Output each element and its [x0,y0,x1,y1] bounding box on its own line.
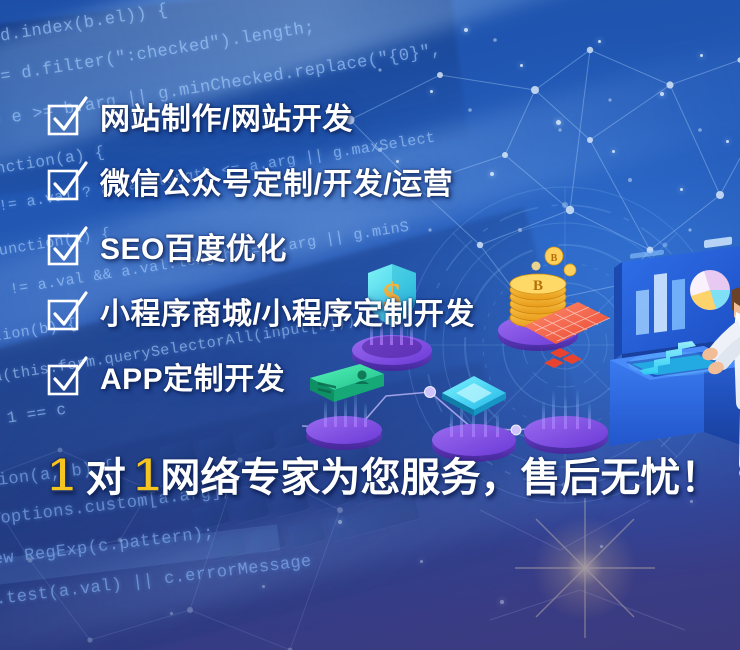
checkbox-checked-icon [48,168,82,202]
tagline: 1 对 1 网络专家为您服务，售后无忧！ [48,452,720,500]
feature-item-miniprogram[interactable]: 小程序商城/小程序定制开发 [48,295,475,335]
tagline-rest-text: 网络专家为您服务，售后无忧！ [160,458,720,498]
tagline-middle-word: 对 [86,458,126,498]
feature-label: 小程序商城/小程序定制开发 [100,300,475,330]
feature-label: SEO百度优化 [100,235,287,265]
feature-label: 微信公众号定制/开发/运营 [100,170,453,200]
promo-banner: .querySelectorAll("input[type=checkbox]"… [0,0,740,650]
feature-item-website[interactable]: 网站制作/网站开发 [48,100,475,140]
checkbox-checked-icon [48,103,82,137]
feature-item-wechat[interactable]: 微信公众号定制/开发/运营 [48,165,475,205]
content-layer: 网站制作/网站开发 微信公众号定制/开发/运营 [0,0,740,650]
feature-label: APP定制开发 [100,365,285,395]
tagline-number-second: 1 [134,452,161,500]
feature-item-app[interactable]: APP定制开发 [48,360,475,400]
checkbox-checked-icon [48,233,82,267]
checkbox-checked-icon [48,298,82,332]
feature-item-seo[interactable]: SEO百度优化 [48,230,475,270]
feature-label: 网站制作/网站开发 [100,105,353,135]
tagline-number-first: 1 [48,452,75,500]
feature-list: 网站制作/网站开发 微信公众号定制/开发/运营 [48,100,475,400]
checkbox-checked-icon [48,363,82,397]
